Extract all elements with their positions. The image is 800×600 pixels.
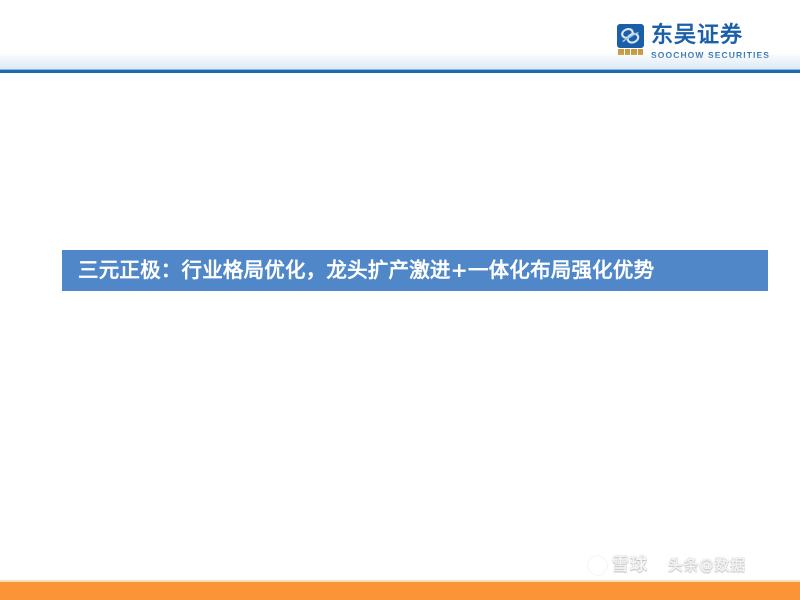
soochow-securities-logo-icon — [617, 24, 644, 55]
brand-name-cn: 东吴证券 — [651, 24, 743, 48]
footer-accent-bar — [0, 582, 800, 600]
slide-canvas: 东吴证券 SOOCHOW SECURITIES 三元正极：行业格局优化，龙头扩产… — [0, 0, 800, 600]
logo-mark-box — [617, 24, 644, 48]
section-title-text: 三元正极：行业格局优化，龙头扩产激进+一体化布局强化优势 — [62, 250, 654, 291]
header-gradient-wash — [0, 52, 800, 69]
slide-header: 东吴证券 SOOCHOW SECURITIES — [0, 0, 800, 72]
slide-body: 三元正极：行业格局优化，龙头扩产激进+一体化布局强化优势 — [0, 73, 800, 582]
logo-ring-glyph — [619, 26, 642, 46]
section-title-banner: 三元正极：行业格局优化，龙头扩产激进+一体化布局强化优势 — [62, 250, 768, 291]
